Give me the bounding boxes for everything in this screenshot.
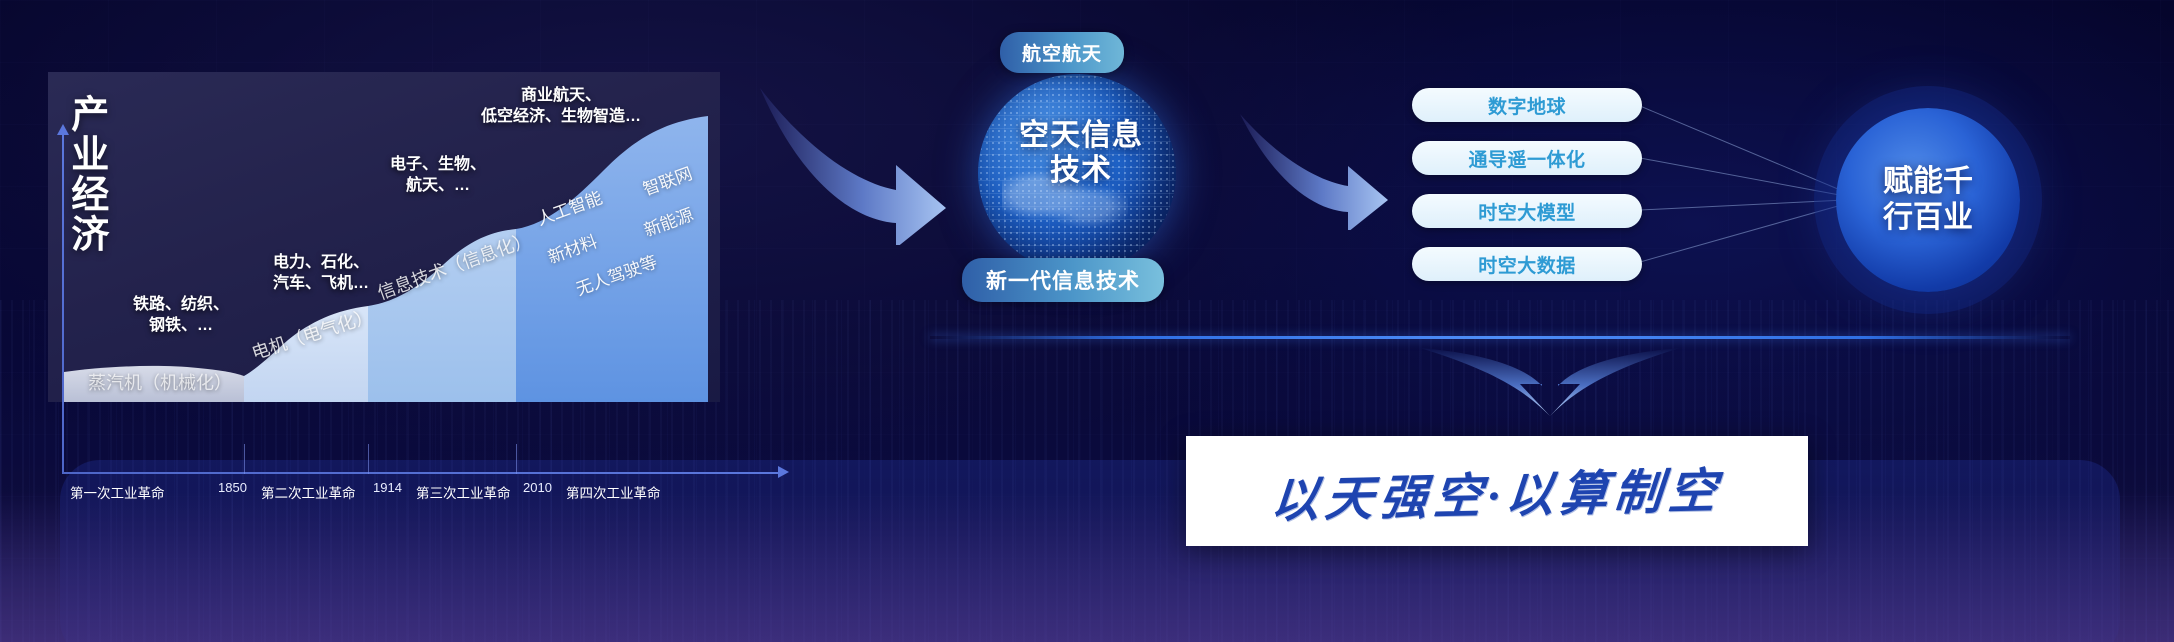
capability-label: 通导遥一体化 [1468, 145, 1585, 172]
chart-y-axis-label: 产业经济 [66, 94, 105, 254]
era-label-first: 第一次工业革命 [70, 482, 165, 502]
capability-label: 数字地球 [1488, 92, 1566, 119]
era-label-third: 第三次工业革命 [416, 482, 511, 502]
empower-industries-label: 赋能千 行百业 [1883, 164, 1973, 236]
chart-y-axis [62, 132, 64, 474]
chart-era-divider [516, 444, 517, 474]
xtick-2010: 2010 [523, 480, 552, 495]
chart-x-axis-arrow [778, 466, 789, 478]
tag-next-gen-it[interactable]: 新一代信息技术 [962, 258, 1164, 302]
tag-aerospace[interactable]: 航空航天 [1000, 32, 1124, 73]
slogan-banner: 以天强空·以算制空 [1186, 436, 1808, 546]
background-glow [0, 492, 2174, 642]
chart-y-axis-arrow [57, 124, 69, 135]
capability-item-integrated-pnt-remote-sensing[interactable]: 通导遥一体化 [1412, 141, 1642, 175]
industry-label-second: 电力、石化、 汽车、飞机… [246, 252, 396, 294]
section-divider [930, 336, 2070, 339]
industry-economy-chart: 产业经济 铁路、纺织、 钢铁、… 电力、石化、 汽车、飞机… 电子、生物、 航天… [48, 72, 720, 422]
capability-list: 数字地球 通导遥一体化 时空大模型 时空大数据 [1412, 88, 1642, 300]
capability-item-spatiotemporal-large-model[interactable]: 时空大模型 [1412, 194, 1642, 228]
era-label-fourth: 第四次工业革命 [566, 482, 661, 502]
slogan-text: 以天强空·以算制空 [1269, 451, 1726, 530]
empower-industries-circle[interactable]: 赋能千 行百业 [1836, 108, 2020, 292]
capability-item-spatiotemporal-big-data[interactable]: 时空大数据 [1412, 247, 1642, 281]
industry-label-first: 铁路、纺织、 钢铁、… [106, 294, 256, 336]
infographic-canvas: 产业经济 铁路、纺织、 钢铁、… 电力、石化、 汽车、飞机… 电子、生物、 航天… [0, 0, 2174, 642]
flow-arrow-2 [1236, 110, 1396, 230]
era-label-second: 第二次工业革命 [261, 482, 356, 502]
wave-label-mechanization: 蒸汽机（机械化） [88, 369, 232, 395]
flow-arrow-down [1400, 344, 1700, 424]
chart-era-divider [368, 444, 369, 474]
chart-era-divider [244, 444, 245, 474]
capability-label: 时空大数据 [1478, 251, 1576, 278]
capability-item-digital-earth[interactable]: 数字地球 [1412, 88, 1642, 122]
industry-label-third: 电子、生物、 航天、… [358, 154, 518, 196]
globe-center-title: 空天信息 技术 [952, 118, 1210, 189]
flow-arrow-1 [756, 80, 956, 245]
industry-label-fourth: 商业航天、 低空经济、生物智造… [446, 85, 676, 127]
aerospace-information-technology-globe: 空天信息 技术 航空航天 新一代信息技术 [952, 36, 1210, 298]
xtick-1850: 1850 [218, 480, 247, 495]
xtick-1914: 1914 [373, 480, 402, 495]
chart-x-axis [62, 472, 782, 474]
capability-label: 时空大模型 [1478, 198, 1576, 225]
